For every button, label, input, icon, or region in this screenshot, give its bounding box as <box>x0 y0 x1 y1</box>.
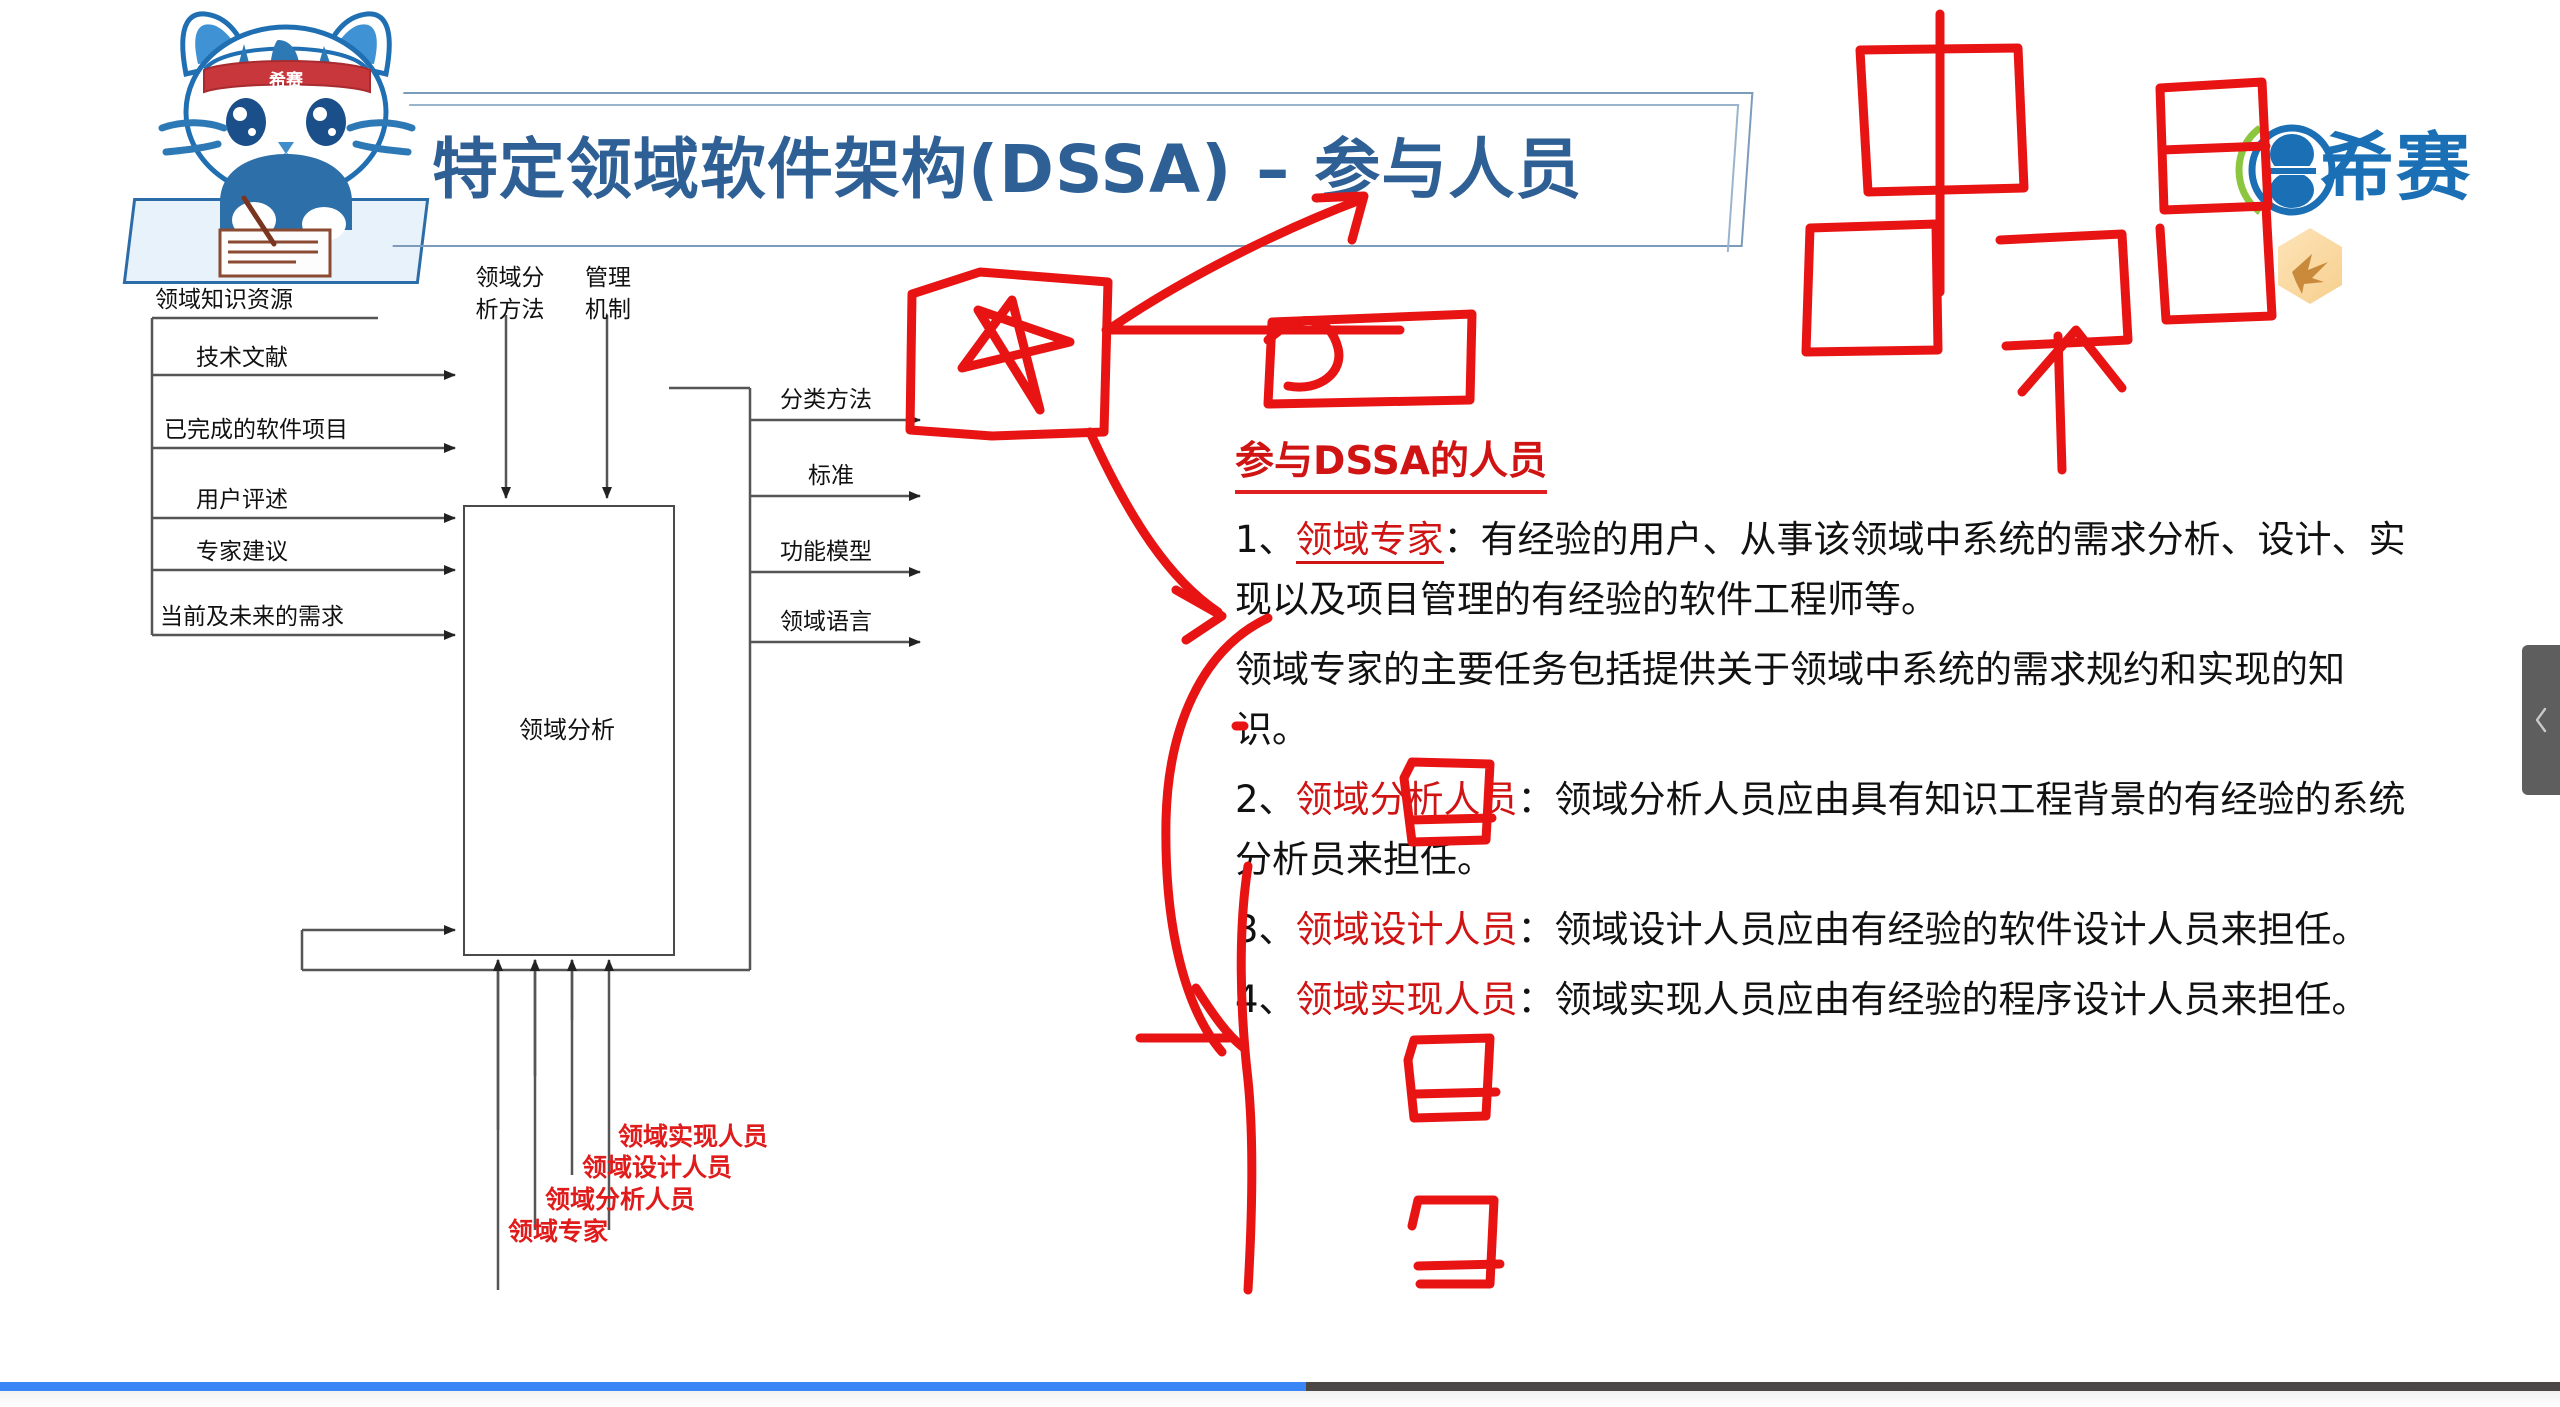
note-item-4: 3、领域设计人员：领域设计人员应由有经验的软件设计人员来担任。 <box>1235 900 2415 960</box>
right-output-label-1: 标准 <box>808 456 854 490</box>
left-input-label-3: 专家建议 <box>196 532 288 566</box>
bottom-role-label-1: 领域设计人员 <box>582 1148 732 1184</box>
top-input-label-0-line1: 领域分 <box>470 258 550 292</box>
note-item-1: 1、领域专家：有经验的用户、从事该领域中系统的需求分析、设计、实现以及项目管理的… <box>1235 510 2415 630</box>
note-3-term: 领域分析人员 <box>1296 778 1518 821</box>
note-1-number: 1、 <box>1235 518 1296 561</box>
right-output-label-0: 分类方法 <box>780 380 872 414</box>
note-5-body: 领域实现人员应由有经验的程序设计人员来担任。 <box>1555 978 2369 1021</box>
note-1-term: 领域专家 <box>1296 518 1444 564</box>
note-3-colon: ： <box>1518 778 1555 821</box>
note-5-number: 4、 <box>1235 978 1296 1021</box>
right-output-label-2: 功能模型 <box>780 532 872 566</box>
top-input-label-1-line1: 管理 <box>578 258 638 292</box>
note-item-2: 领域专家的主要任务包括提供关于领域中系统的需求规约和实现的知识。 <box>1235 640 2415 760</box>
cursor-icon <box>2278 228 2342 304</box>
bottom-role-label-2: 领域分析人员 <box>545 1180 695 1216</box>
note-item-3: 2、领域分析人员：领域分析人员应由具有知识工程背景的有经验的系统分析员来担任。 <box>1235 770 2415 890</box>
left-input-label-4: 当前及未来的需求 <box>160 597 344 631</box>
note-item-5: 4、领域实现人员：领域实现人员应由有经验的程序设计人员来担任。 <box>1235 970 2415 1030</box>
left-input-label-0: 技术文献 <box>196 338 288 372</box>
chevron-left-icon <box>2532 705 2550 735</box>
top-input-label-1-line2: 机制 <box>578 290 638 324</box>
note-4-colon: ： <box>1518 908 1555 951</box>
left-group-label: 领域知识资源 <box>155 280 293 314</box>
process-box-label: 领域分析 <box>463 710 671 745</box>
note-4-number: 3、 <box>1235 908 1296 951</box>
note-4-term: 领域设计人员 <box>1296 908 1518 951</box>
video-progress-fill <box>0 1382 1306 1391</box>
left-input-label-2: 用户评述 <box>196 480 288 514</box>
video-progress-track[interactable] <box>0 1382 2560 1391</box>
notes-heading: 参与DSSA的人员 <box>1235 430 1547 494</box>
bottom-fade <box>0 1391 2560 1407</box>
note-5-colon: ： <box>1518 978 1555 1021</box>
bottom-role-label-3: 领域专家 <box>508 1212 608 1248</box>
note-1-colon: ： <box>1444 518 1481 561</box>
left-input-label-1: 已完成的软件项目 <box>164 410 348 444</box>
note-4-body: 领域设计人员应由有经验的软件设计人员来担任。 <box>1555 908 2369 951</box>
notes-panel: 参与DSSA的人员 1、领域专家：有经验的用户、从事该领域中系统的需求分析、设计… <box>1235 430 2415 1034</box>
brand-name: 希赛 <box>2320 108 2472 215</box>
note-5-term: 领域实现人员 <box>1296 978 1518 1021</box>
sidebar-collapse-tab[interactable] <box>2522 645 2560 795</box>
slide-canvas: 希赛 特定领域软件架构( <box>0 0 2560 1407</box>
right-output-label-3: 领域语言 <box>780 602 872 636</box>
note-3-number: 2、 <box>1235 778 1296 821</box>
note-2-body: 领域专家的主要任务包括提供关于领域中系统的需求规约和实现的知识。 <box>1235 648 2345 751</box>
domain-analysis-diagram: 领域分析 领域分 析方法 管理 机制 领域知识资源 技术文献 已完成的软件项目 … <box>130 270 1250 1390</box>
svg-text:希赛: 希赛 <box>269 70 304 91</box>
page-title: 特定领域软件架构(DSSA) – 参与人员 <box>432 116 1752 212</box>
top-input-label-0-line2: 析方法 <box>470 290 550 324</box>
